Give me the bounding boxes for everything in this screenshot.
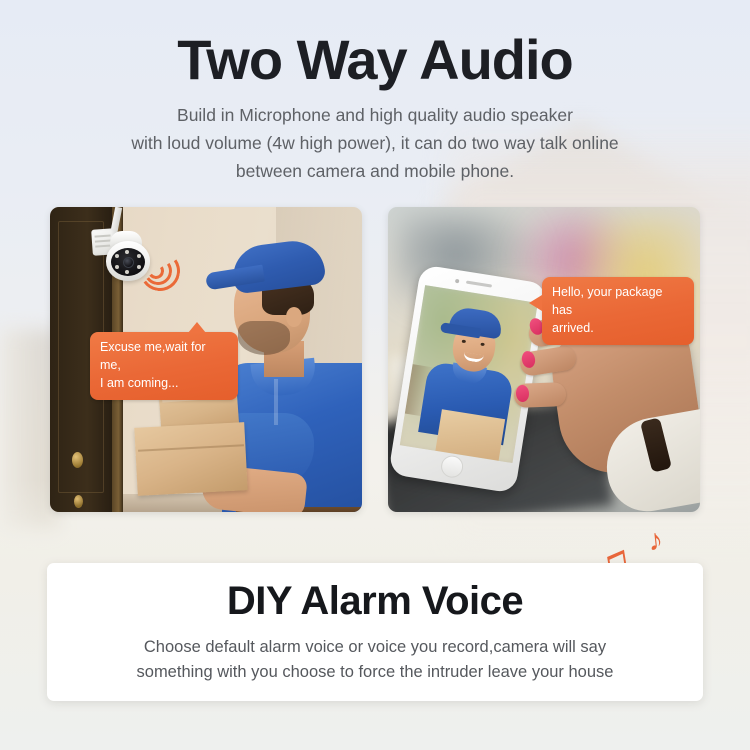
photo-panel-row: Excuse me,wait for me, I am coming... <box>50 207 700 512</box>
home-button[interactable] <box>440 454 465 479</box>
beard <box>238 321 290 355</box>
ir-led <box>125 270 129 274</box>
speech-bubble-courier: Hello, your package has arrived. <box>542 277 694 345</box>
card-description: Choose default alarm voice or voice you … <box>47 635 703 685</box>
front-camera-icon <box>455 279 460 284</box>
ir-led <box>125 250 129 254</box>
page-title: Two Way Audio <box>0 30 750 89</box>
subtitle-line-3: between camera and mobile phone. <box>0 158 750 186</box>
speech-bubble-visitor: Excuse me,wait for me, I am coming... <box>90 332 238 400</box>
parcel-box-large <box>134 422 247 496</box>
music-note-icon: ♪ <box>646 525 664 556</box>
subtitle-line-1: Build in Microphone and high quality aud… <box>0 102 750 130</box>
earpiece-speaker <box>466 281 492 288</box>
speech-bubble-line-1: Excuse me,wait for me, <box>100 339 228 375</box>
door-knob-icon <box>72 452 83 468</box>
card-title: DIY Alarm Voice <box>47 580 703 622</box>
speech-bubble-tail <box>529 295 542 311</box>
video-parcel-box <box>435 409 505 460</box>
diy-alarm-voice-card: DIY Alarm Voice Choose default alarm voi… <box>47 563 703 701</box>
card-description-line-1: Choose default alarm voice or voice you … <box>47 635 703 660</box>
speech-bubble-tail <box>188 322 206 333</box>
speech-bubble-line-2: arrived. <box>552 320 684 338</box>
card-description-line-2: something with you choose to force the i… <box>47 660 703 685</box>
blue-cap <box>230 238 327 295</box>
shirt-placket <box>274 379 278 425</box>
security-camera-icon <box>90 215 160 287</box>
header-section: Two Way Audio Build in Microphone and hi… <box>0 0 750 185</box>
camera-lens <box>123 257 134 268</box>
door-lock-icon <box>74 495 83 508</box>
page-subtitle: Build in Microphone and high quality aud… <box>0 102 750 185</box>
ir-led <box>137 254 141 258</box>
photo-panel-phone: Hello, your package has arrived. <box>388 207 700 512</box>
ir-led <box>115 254 119 258</box>
subtitle-line-2: with loud volume (4w high power), it can… <box>0 130 750 158</box>
ear <box>286 307 302 327</box>
photo-panel-doorway: Excuse me,wait for me, I am coming... <box>50 207 362 512</box>
product-feature-page: Two Way Audio Build in Microphone and hi… <box>0 0 750 750</box>
ir-led <box>115 265 119 269</box>
speech-bubble-line-1: Hello, your package has <box>552 284 684 320</box>
speech-bubble-line-2: I am coming... <box>100 375 228 393</box>
